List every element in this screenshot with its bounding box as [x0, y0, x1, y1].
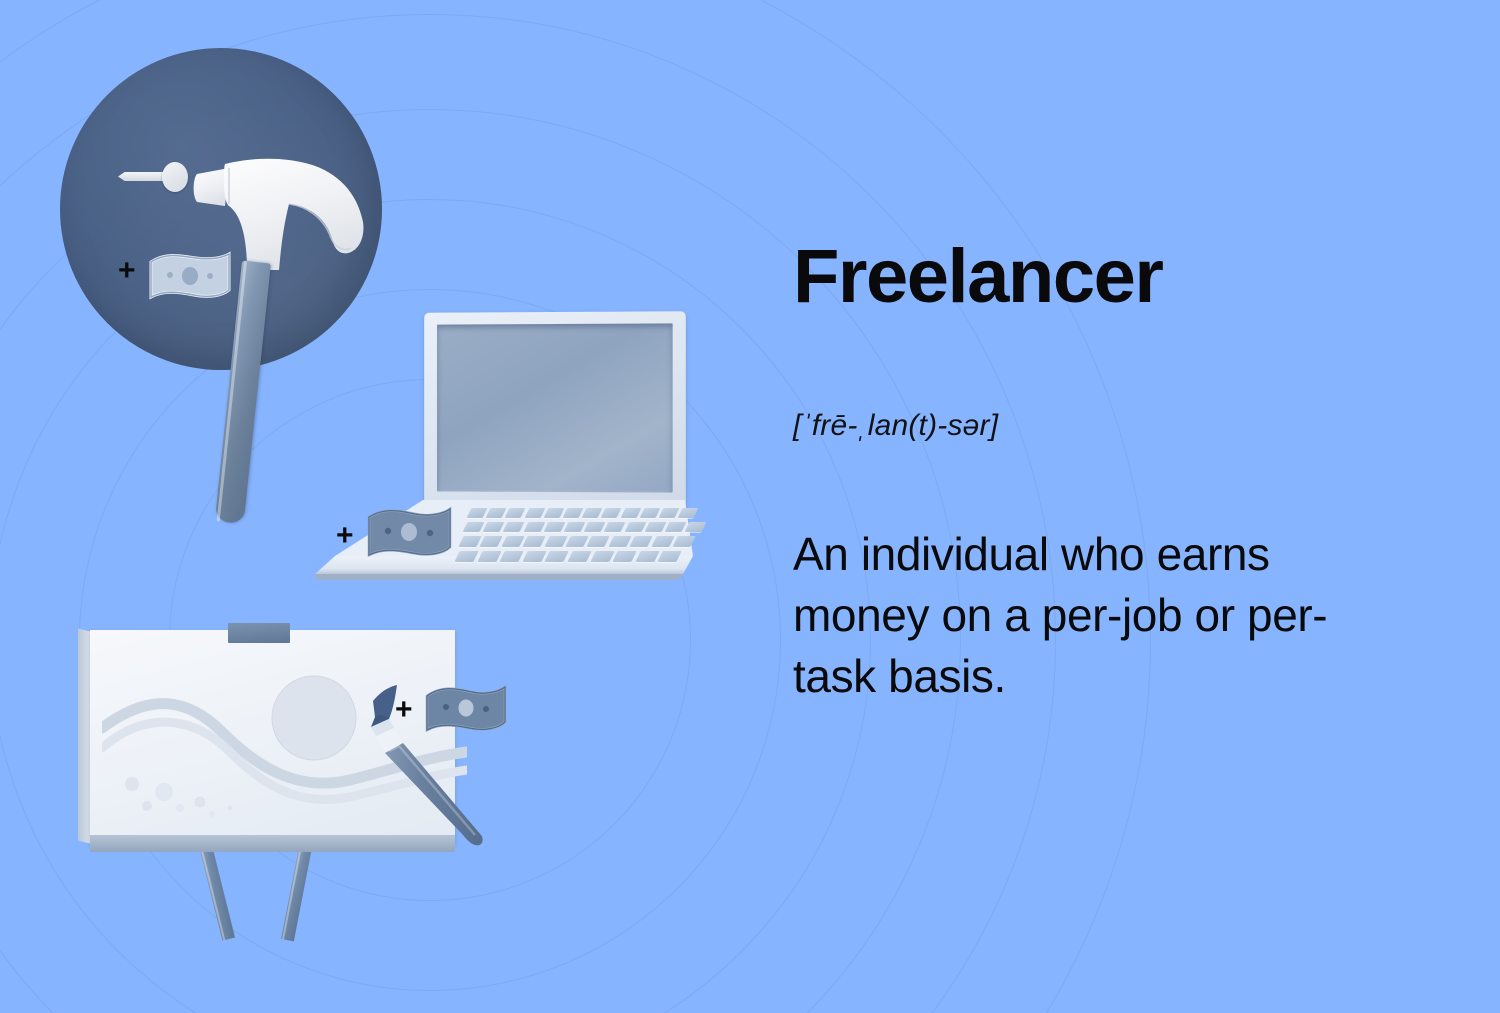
plus-sign-hammer: +: [118, 256, 136, 286]
laptop-screen: [437, 323, 673, 492]
entry-title: Freelancer: [793, 239, 1162, 315]
easel-leg-right: [281, 841, 313, 942]
laptop-lid: [424, 311, 686, 509]
banknote-icon-laptop: [365, 505, 453, 560]
nail-icon: [118, 160, 188, 194]
plus-sign-easel: +: [395, 695, 413, 725]
entry-definition: An individual who earns money on a per-j…: [793, 524, 1408, 708]
entry-pronunciation: [ˈfrē-ˌlan(t)-sər]: [793, 411, 998, 441]
definition-panel: Freelancer [ˈfrē-ˌlan(t)-sər] An individ…: [793, 0, 1433, 1013]
illustration-canvas: +: [0, 0, 1500, 1013]
plus-sign-laptop: +: [336, 521, 354, 551]
easel-icon: [78, 620, 508, 930]
banknote-icon-easel: [423, 682, 508, 734]
laptop-icon: [305, 300, 695, 590]
laptop-base: [305, 498, 695, 580]
easel-leg-left: [198, 840, 235, 940]
canvas-clip: [228, 623, 290, 643]
